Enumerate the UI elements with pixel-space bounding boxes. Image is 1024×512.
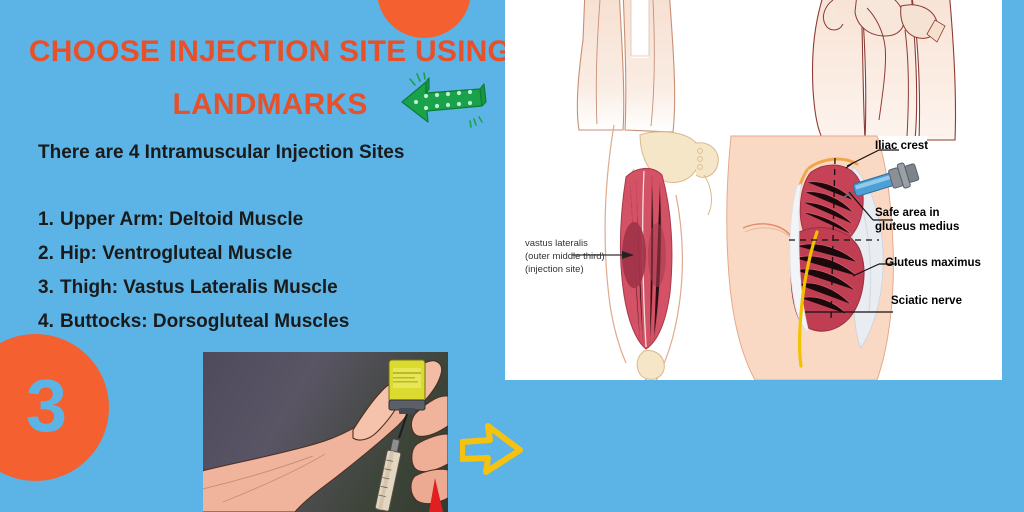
subtitle: There are 4 Intramuscular Injection Site… bbox=[38, 142, 404, 164]
iliac-crest-label: Iliac crest bbox=[875, 139, 928, 153]
syringe-vial-illustration bbox=[203, 352, 448, 512]
list-item-number: 2. bbox=[38, 244, 60, 263]
list-item-number: 3. bbox=[38, 278, 60, 297]
list-item-number: 4. bbox=[38, 312, 60, 331]
gluteus-maximus-label: Gluteus maximus bbox=[885, 256, 981, 270]
sciatic-nerve-label: Sciatic nerve bbox=[891, 294, 962, 308]
list-item-label: Thigh: Vastus Lateralis Muscle bbox=[60, 278, 338, 297]
list-item-label: Buttocks: Dorsogluteal Muscles bbox=[60, 312, 349, 331]
anatomy-illustrations bbox=[505, 0, 1002, 380]
step-number-label: 3 bbox=[4, 369, 67, 447]
vastus-lateralis-label: vastus lateralis (outer middle third) (i… bbox=[525, 238, 635, 276]
injection-sites-list: 1. Upper Arm: Deltoid Muscle 2. Hip: Ven… bbox=[38, 210, 478, 346]
slide-canvas: CHOOSE INJECTION SITE USING LANDMARKS bbox=[0, 0, 1024, 512]
list-item: 2. Hip: Ventrogluteal Muscle bbox=[38, 244, 478, 263]
list-item-label: Upper Arm: Deltoid Muscle bbox=[60, 210, 303, 229]
green-arrow-left-icon bbox=[396, 72, 490, 130]
list-item-label: Hip: Ventrogluteal Muscle bbox=[60, 244, 292, 263]
step-number-badge: 3 bbox=[0, 334, 109, 481]
list-item: 1. Upper Arm: Deltoid Muscle bbox=[38, 210, 478, 229]
list-item-number: 1. bbox=[38, 210, 60, 229]
list-item: 4. Buttocks: Dorsogluteal Muscles bbox=[38, 312, 478, 331]
list-item: 3. Thigh: Vastus Lateralis Muscle bbox=[38, 278, 478, 297]
anatomy-diagram-panel: vastus lateralis (outer middle third) (i… bbox=[505, 0, 1002, 380]
yellow-arrow-right-icon bbox=[460, 420, 524, 478]
safe-area-gluteus-medius-label: Safe area in gluteus medius bbox=[875, 206, 995, 235]
